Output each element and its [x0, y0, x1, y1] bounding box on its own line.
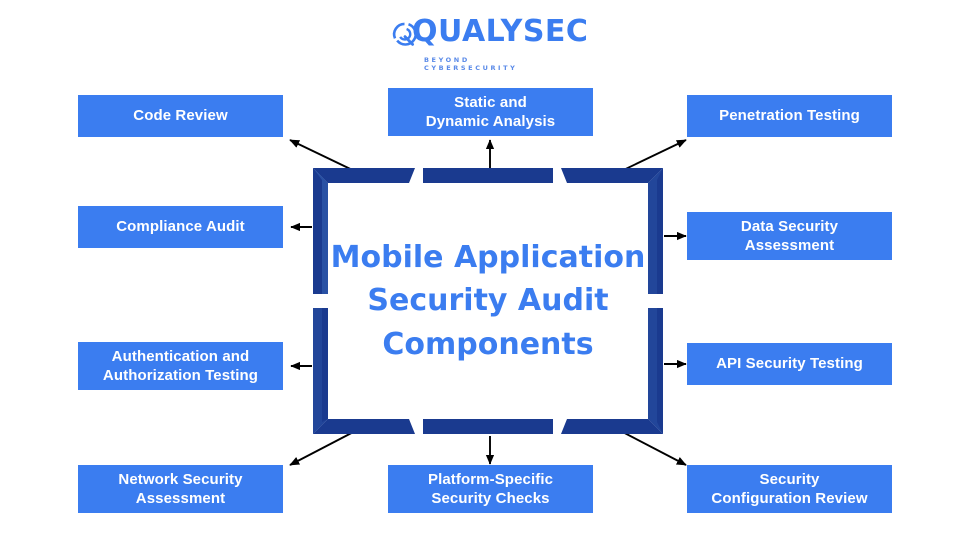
node-label-line-2: Assessment [741, 236, 838, 256]
node-label-line-1: Data Security [741, 217, 838, 237]
node-label-line-2: Dynamic Analysis [426, 112, 555, 132]
node-code-review[interactable]: Code Review [78, 95, 283, 137]
node-network-security-assessment[interactable]: Network Security Assessment [78, 465, 283, 513]
node-penetration-testing[interactable]: Penetration Testing [687, 95, 892, 137]
node-platform-specific-security-checks[interactable]: Platform-Specific Security Checks [388, 465, 593, 513]
node-security-configuration-review[interactable]: Security Configuration Review [687, 465, 892, 513]
center-title-line-2: Security Audit [367, 283, 608, 318]
center-panel-title: Mobile Application Security Audit Compon… [313, 168, 663, 434]
node-label-line-1: Authentication and [103, 347, 258, 367]
node-compliance-audit[interactable]: Compliance Audit [78, 206, 283, 248]
node-label-line-1: Code Review [133, 106, 227, 126]
node-label-line-2: Configuration Review [711, 489, 867, 509]
node-label-line-2: Assessment [118, 489, 242, 509]
node-label-line-1: Network Security [118, 470, 242, 490]
node-authentication-and-authorization-testing[interactable]: Authentication and Authorization Testing [78, 342, 283, 390]
node-label-line-1: Platform-Specific [428, 470, 553, 490]
node-static-and-dynamic-analysis[interactable]: Static and Dynamic Analysis [388, 88, 593, 136]
node-label-line-1: Penetration Testing [719, 106, 860, 126]
node-label-line-1: Static and [426, 93, 555, 113]
node-label-line-1: Compliance Audit [116, 217, 245, 237]
node-label-line-1: API Security Testing [716, 354, 863, 374]
center-title-line-3: Components [382, 327, 593, 362]
node-data-security-assessment[interactable]: Data Security Assessment [687, 212, 892, 260]
node-api-security-testing[interactable]: API Security Testing [687, 343, 892, 385]
diagram-canvas: QUALYSEC BEYOND CYBERSECURITY [0, 0, 960, 540]
node-label-line-2: Authorization Testing [103, 366, 258, 386]
node-label-line-1: Security [711, 470, 867, 490]
center-panel: Mobile Application Security Audit Compon… [313, 168, 663, 434]
node-label-line-2: Security Checks [428, 489, 553, 509]
center-title-line-1: Mobile Application [331, 240, 646, 275]
